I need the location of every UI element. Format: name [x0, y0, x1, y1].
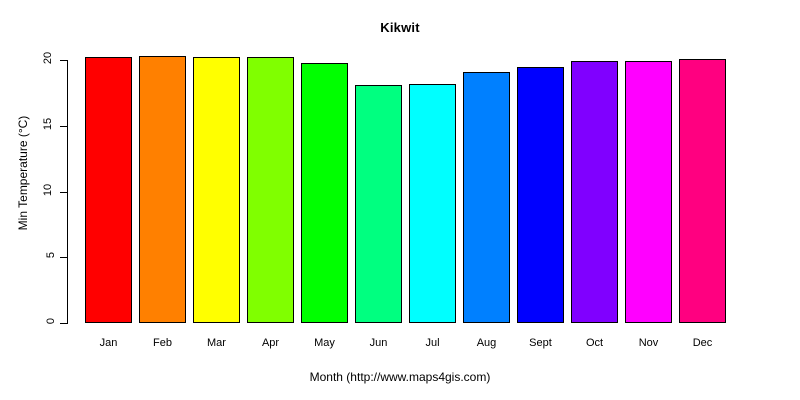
y-axis-tick-label-text: 5: [45, 252, 57, 258]
bar-oct: [571, 61, 618, 323]
bar-apr: [247, 57, 294, 323]
x-axis-tick-label-jul: Jul: [403, 337, 463, 349]
bar-jun: [355, 85, 402, 323]
y-axis-tick-mark: [60, 60, 67, 61]
bar-may: [301, 63, 348, 323]
y-axis-tick-mark: [60, 257, 67, 258]
bar-nov: [625, 61, 672, 323]
x-axis-title: Month (http://www.maps4gis.com): [0, 370, 800, 384]
bar-dec: [679, 59, 726, 323]
bar-chart: Kikwit 05101520 Min Temperature (°C) Jan…: [0, 0, 800, 400]
x-axis-tick-label-oct: Oct: [565, 337, 625, 349]
x-axis-tick-label-feb: Feb: [133, 337, 193, 349]
x-axis-tick-label-may: May: [295, 337, 355, 349]
y-axis-tick-label-text: 20: [42, 52, 54, 64]
x-axis-tick-label-mar: Mar: [187, 337, 247, 349]
x-axis-tick-label-aug: Aug: [457, 337, 517, 349]
y-axis-tick-mark: [60, 126, 67, 127]
bar-feb: [139, 56, 186, 323]
y-axis-tick-label: 0: [0, 315, 54, 327]
x-axis-tick-label-sept: Sept: [511, 337, 571, 349]
y-axis-tick-mark: [60, 192, 67, 193]
x-axis-tick-label-jun: Jun: [349, 337, 409, 349]
y-axis-tick-label-text: 15: [42, 118, 54, 130]
y-axis-title: Min Temperature (°C): [16, 58, 30, 288]
y-axis-tick-label-text: 10: [42, 183, 54, 195]
y-axis-tick-label-text: 0: [45, 318, 57, 324]
x-axis-tick-label-dec: Dec: [673, 337, 733, 349]
chart-title: Kikwit: [0, 20, 800, 35]
bar-jul: [409, 84, 456, 323]
bar-mar: [193, 57, 240, 323]
x-axis-tick-label-jan: Jan: [79, 337, 139, 349]
bar-sept: [517, 67, 564, 323]
bar-jan: [85, 57, 132, 323]
y-axis-tick-mark: [60, 323, 67, 324]
x-axis-tick-label-apr: Apr: [241, 337, 301, 349]
x-axis-tick-label-nov: Nov: [619, 337, 679, 349]
y-axis-line: [67, 60, 68, 324]
bar-aug: [463, 72, 510, 323]
